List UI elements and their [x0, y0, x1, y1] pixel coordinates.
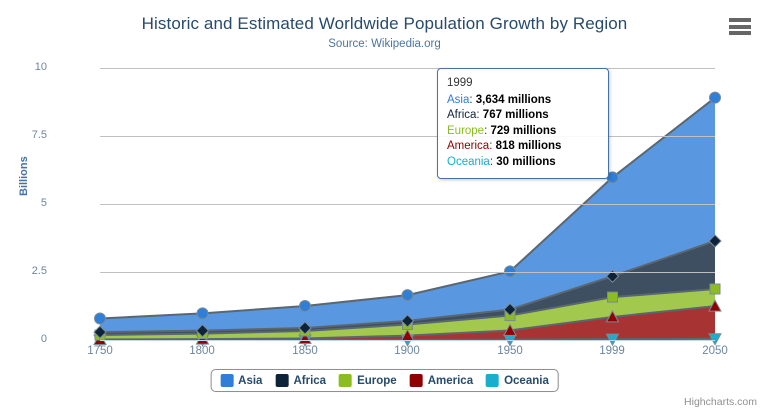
- legend-item-label: Africa: [293, 375, 326, 387]
- legend-item-america[interactable]: America: [410, 374, 473, 387]
- tooltip-series-value: 3,634 millions: [476, 94, 551, 106]
- legend-swatch-icon: [220, 374, 233, 387]
- x-axis-tick-1800: 1800: [189, 345, 215, 357]
- tooltip-series-value: 818 millions: [496, 140, 562, 152]
- x-axis-tick-1999: 1999: [599, 345, 625, 357]
- tooltip-series-name: America: [447, 140, 489, 152]
- data-point-europe-2050[interactable]: [710, 284, 720, 294]
- legend-swatch-icon: [339, 374, 352, 387]
- data-point-asia-2050[interactable]: [710, 92, 721, 103]
- data-point-asia-1750[interactable]: [95, 313, 106, 324]
- menu-bar-3: [729, 31, 751, 35]
- legend-swatch-icon: [275, 374, 288, 387]
- tooltip-row-oceania: Oceania: 30 millions: [447, 155, 599, 171]
- legend-item-label: Europe: [357, 375, 397, 387]
- legend-item-label: America: [428, 375, 473, 387]
- tooltip-series-name: Asia: [447, 94, 469, 106]
- gridline-5: [100, 204, 715, 205]
- legend-item-label: Oceania: [504, 375, 549, 387]
- legend-swatch-icon: [410, 374, 423, 387]
- tooltip-series-value: 729 millions: [490, 125, 556, 137]
- x-axis-line: [100, 340, 715, 341]
- legend-item-asia[interactable]: Asia: [220, 374, 262, 387]
- x-axis-tick-2050: 2050: [702, 345, 728, 357]
- legend-item-africa[interactable]: Africa: [275, 374, 326, 387]
- x-axis-tick-1850: 1850: [292, 345, 318, 357]
- x-axis-tick-1950: 1950: [497, 345, 523, 357]
- legend-swatch-icon: [486, 374, 499, 387]
- legend: Asia Africa Europe America Oceania: [210, 369, 559, 392]
- y-axis-title: Billions: [18, 156, 30, 196]
- data-point-asia-1900[interactable]: [402, 290, 413, 301]
- tooltip-series-name: Africa: [447, 109, 476, 121]
- data-point-asia-1850[interactable]: [300, 300, 311, 311]
- menu-bar-2: [729, 25, 751, 29]
- x-axis-tick-1750: 1750: [87, 345, 113, 357]
- credits-link[interactable]: Highcharts.com: [684, 396, 757, 408]
- page-title: Historic and Estimated Worldwide Populat…: [0, 14, 769, 34]
- tooltip-series-name: Oceania: [447, 156, 490, 168]
- gridline-7.5: [100, 136, 715, 137]
- plot-area: [100, 68, 715, 340]
- tooltip-header: 1999: [447, 76, 599, 92]
- tooltip-series-name: Europe: [447, 125, 484, 137]
- x-axis-tick-1900: 1900: [394, 345, 420, 357]
- hamburger-menu-icon[interactable]: [729, 18, 751, 35]
- legend-item-label: Asia: [238, 375, 262, 387]
- tooltip: 1999 Asia: 3,634 millions Africa: 767 mi…: [437, 68, 609, 179]
- tooltip-row-america: America: 818 millions: [447, 139, 599, 155]
- y-axis-tick-2.5: 2.5: [0, 265, 47, 277]
- y-axis-tick-5: 5: [0, 197, 47, 209]
- y-axis-tick-0: 0: [0, 333, 47, 345]
- tooltip-series-value: 30 millions: [496, 156, 555, 168]
- tooltip-row-europe: Europe: 729 millions: [447, 124, 599, 140]
- data-point-asia-1800[interactable]: [197, 308, 208, 319]
- tooltip-row-asia: Asia: 3,634 millions: [447, 93, 599, 109]
- gridline-10: [100, 68, 715, 69]
- data-point-europe-1999[interactable]: [608, 292, 618, 302]
- gridline-2.5: [100, 272, 715, 273]
- highcharts-container: Historic and Estimated Worldwide Populat…: [0, 0, 769, 416]
- legend-item-oceania[interactable]: Oceania: [486, 374, 549, 387]
- menu-bar-1: [729, 18, 751, 22]
- y-axis-tick-10: 10: [0, 61, 47, 73]
- tooltip-row-africa: Africa: 767 millions: [447, 108, 599, 124]
- chart-subtitle: Source: Wikipedia.org: [0, 38, 769, 50]
- legend-item-europe[interactable]: Europe: [339, 374, 397, 387]
- tooltip-series-value: 767 millions: [483, 109, 549, 121]
- y-axis-tick-7.5: 7.5: [0, 129, 47, 141]
